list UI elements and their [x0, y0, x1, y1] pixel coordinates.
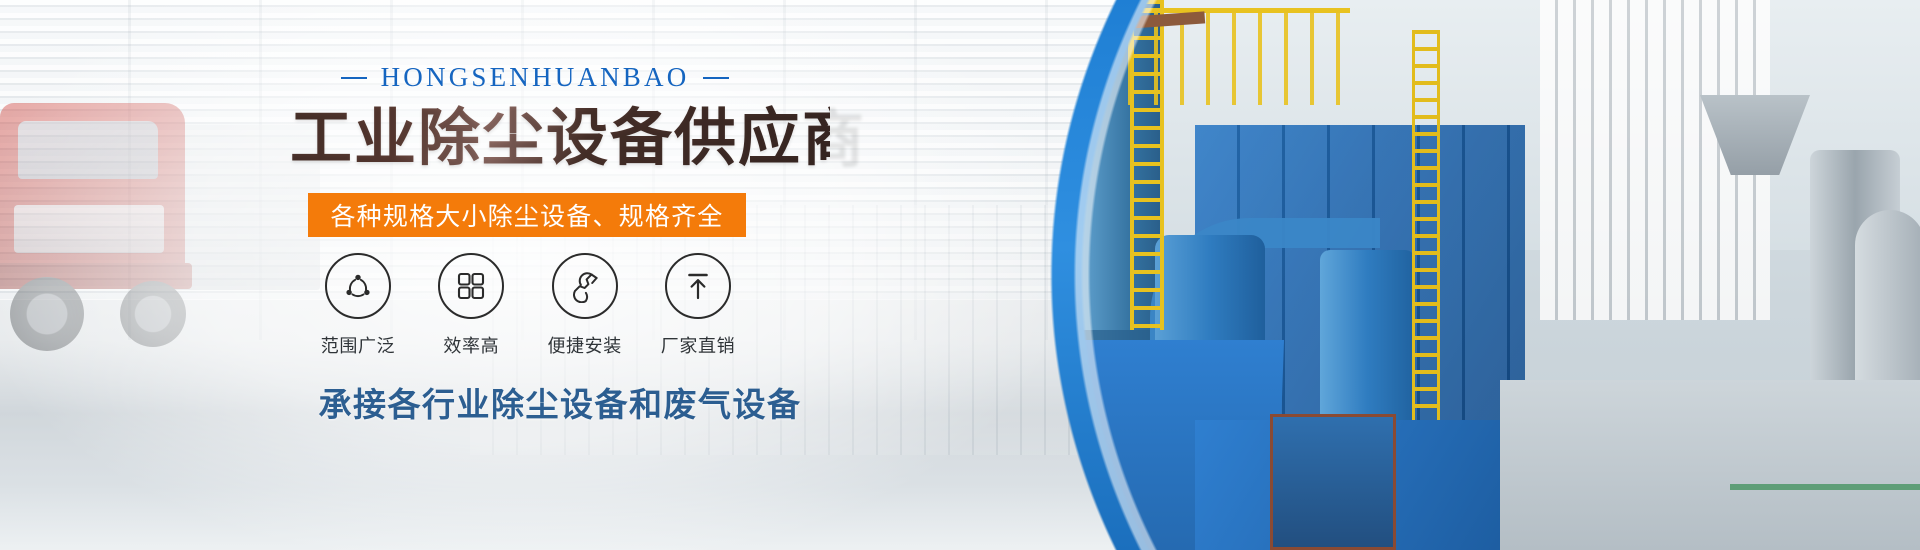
feature-label: 范围广泛	[321, 332, 395, 358]
brand-eyebrow: HONGSENHUANBAO	[360, 62, 710, 93]
arrow-up-to-bar-icon	[665, 253, 731, 319]
feature-label: 厂家直销	[661, 332, 735, 358]
feature-item-install: 便捷安装	[535, 253, 635, 358]
grid-four-squares-icon	[438, 253, 504, 319]
photo-edge-fade	[800, 0, 1920, 550]
share-network-icon	[325, 253, 391, 319]
feature-item-efficiency: 效率高	[421, 253, 521, 358]
page-title: 工业除尘设备供应商	[290, 104, 830, 173]
highlight-bar-text: 各种规格大小除尘设备、规格齐全	[330, 197, 723, 233]
brand-eyebrow-text: HONGSENHUANBAO	[381, 62, 690, 93]
feature-list: 范围广泛 效率高	[308, 253, 748, 358]
dash-left-icon	[341, 77, 367, 79]
feature-item-factory-direct: 厂家直销	[648, 253, 748, 358]
dash-right-icon	[703, 77, 729, 79]
plant-photo	[800, 0, 1920, 550]
hero-banner: HONGSENHUANBAO 工业除尘设备供应商 各种规格大小除尘设备、规格齐全	[0, 0, 1920, 550]
feature-item-range: 范围广泛	[308, 253, 408, 358]
feature-label: 效率高	[443, 332, 499, 358]
highlight-bar: 各种规格大小除尘设备、规格齐全	[308, 193, 746, 237]
feature-label: 便捷安装	[547, 332, 621, 358]
banner-tagline: 承接各行业除尘设备和废气设备	[290, 378, 830, 426]
banner-content: HONGSENHUANBAO 工业除尘设备供应商 各种规格大小除尘设备、规格齐全	[0, 0, 900, 550]
wrench-icon	[552, 253, 618, 319]
